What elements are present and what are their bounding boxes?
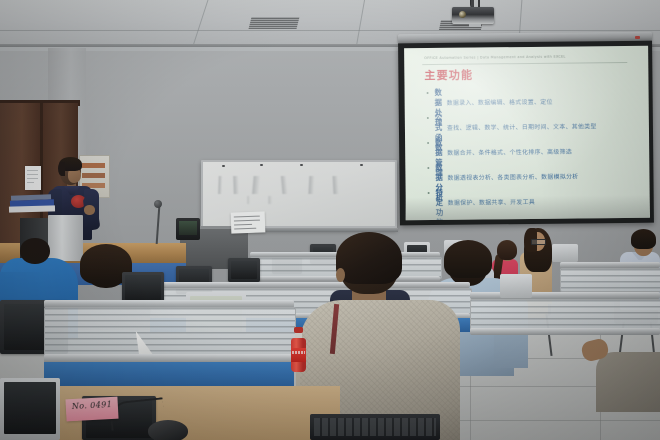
- frosted-glass-partition: [44, 307, 296, 357]
- ceiling-air-vent-icon: [249, 17, 300, 29]
- ceiling-seam: [0, 30, 660, 31]
- bullet-dot-icon: [427, 167, 429, 169]
- bottle-cap: [294, 327, 303, 333]
- whiteboard-erased-writing: [215, 176, 365, 194]
- glass-blind-pattern: [45, 308, 295, 356]
- printed-handout: [231, 211, 266, 233]
- partition-rail: [470, 292, 660, 299]
- desk-label-text: No. 0491: [72, 400, 113, 411]
- bullet-dot-icon: [427, 117, 429, 119]
- slide-header-text: OFFICE Automation Series | Data Manageme…: [424, 55, 566, 60]
- partition-rail: [470, 328, 660, 335]
- keyboard-keys: [314, 418, 436, 436]
- bottle-label-text: [292, 351, 305, 354]
- audience-arm-right: [596, 352, 660, 412]
- glass-blind-pattern: [471, 300, 660, 330]
- bullet-heading: 特定功能: [436, 188, 444, 220]
- bullet-detail: 数据保护、数据共享、开发工具: [448, 196, 535, 206]
- frosted-glass-partition: [560, 268, 660, 292]
- slide-title: 主要功能: [424, 67, 473, 84]
- monitor-screen: [231, 261, 257, 279]
- audience-hair: [444, 240, 492, 278]
- monitor[interactable]: [552, 244, 578, 262]
- bullet-detail: 查找、逻辑、数学、统计、日期时间、文本、其他类型: [447, 121, 597, 132]
- stacked-books: [9, 205, 55, 212]
- slide-header-rule: [422, 62, 627, 65]
- monitor[interactable]: [500, 274, 532, 298]
- desktop-computer-tower[interactable]: [48, 215, 83, 261]
- monitor-screen: [4, 382, 56, 434]
- whiteboard-clip: [360, 164, 363, 166]
- presenter-hand: [84, 205, 95, 215]
- plaque-band: [82, 163, 105, 168]
- podium-monitor-screen: [179, 221, 197, 235]
- presenter-hair: [58, 162, 65, 176]
- bullet-dot-icon: [427, 92, 429, 94]
- computer-mouse[interactable]: [148, 420, 188, 440]
- bullet-dot-icon: [427, 142, 429, 144]
- eyeglasses-icon: [531, 239, 546, 245]
- whiteboard-erased-writing: [240, 196, 310, 204]
- projector-base: [469, 24, 481, 27]
- whiteboard-clip: [260, 164, 263, 166]
- plaque-band: [82, 173, 105, 178]
- classroom-photo-scene: OFFICE Automation Series | Data Manageme…: [0, 0, 660, 440]
- frosted-glass-partition: [470, 299, 660, 331]
- desk-blue-panel: [44, 362, 294, 388]
- student-head: [20, 238, 50, 264]
- pink-desk-label: No. 0491: [65, 397, 118, 422]
- glass-blind-pattern: [561, 269, 660, 291]
- projector-lens-icon: [459, 11, 466, 18]
- bullet-detail: 数据合并、条件格式、个性化排序、高级筛选: [447, 146, 572, 156]
- screen-housing-endcap: [635, 36, 640, 39]
- whiteboard-clip: [222, 165, 225, 167]
- ear: [336, 268, 345, 282]
- posted-paper-notice: [25, 166, 41, 190]
- audience-hair: [631, 229, 656, 249]
- bullet-detail: 数据透视表分析、各类图表分析、数据模拟分析: [447, 171, 578, 181]
- foreground-man-hair: [336, 232, 402, 284]
- projection-screen-surface[interactable]: OFFICE Automation Series | Data Manageme…: [404, 46, 650, 221]
- audience-hair: [497, 240, 517, 260]
- monitor-screen: [125, 275, 161, 300]
- microphone-icon[interactable]: [154, 200, 162, 208]
- whiteboard-clip: [300, 164, 303, 166]
- bullet-detail: 数据录入、数据编辑、格式设置、定位: [447, 96, 553, 106]
- bullet-dot-icon: [428, 192, 430, 194]
